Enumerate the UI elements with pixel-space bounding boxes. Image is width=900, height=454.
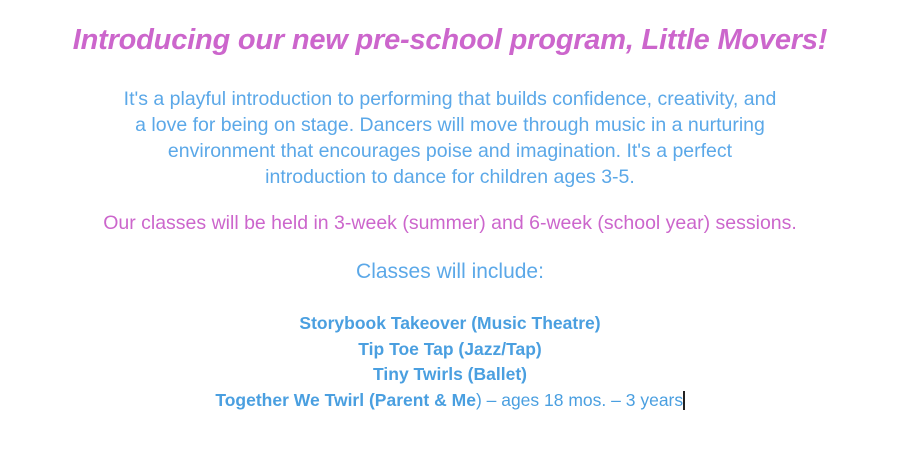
class-list-item-name: Together We Twirl (Parent & Me	[215, 390, 476, 410]
page-title: Introducing our new pre-school program, …	[0, 22, 900, 58]
class-list-item: Storybook Takeover (Music Theatre)	[0, 311, 900, 337]
class-list-item: Together We Twirl (Parent & Me) – ages 1…	[0, 388, 900, 414]
classes-include-heading: Classes will include:	[0, 258, 900, 286]
document-canvas[interactable]: Introducing our new pre-school program, …	[0, 0, 900, 454]
class-list-item: Tip Toe Tap (Jazz/Tap)	[0, 337, 900, 363]
intro-paragraph: It's a playful introduction to performin…	[50, 86, 850, 190]
class-list-item-agerange: ) – ages 18 mos. – 3 years	[476, 390, 683, 410]
intro-line-4: introduction to dance for children ages …	[50, 164, 850, 190]
class-list: Storybook Takeover (Music Theatre) Tip T…	[0, 311, 900, 413]
intro-line-3: environment that encourages poise and im…	[50, 138, 850, 164]
class-list-item: Tiny Twirls (Ballet)	[0, 362, 900, 388]
text-cursor	[683, 391, 685, 410]
sessions-info-line: Our classes will be held in 3-week (summ…	[0, 210, 900, 236]
intro-line-2: a love for being on stage. Dancers will …	[50, 112, 850, 138]
intro-line-1: It's a playful introduction to performin…	[50, 86, 850, 112]
